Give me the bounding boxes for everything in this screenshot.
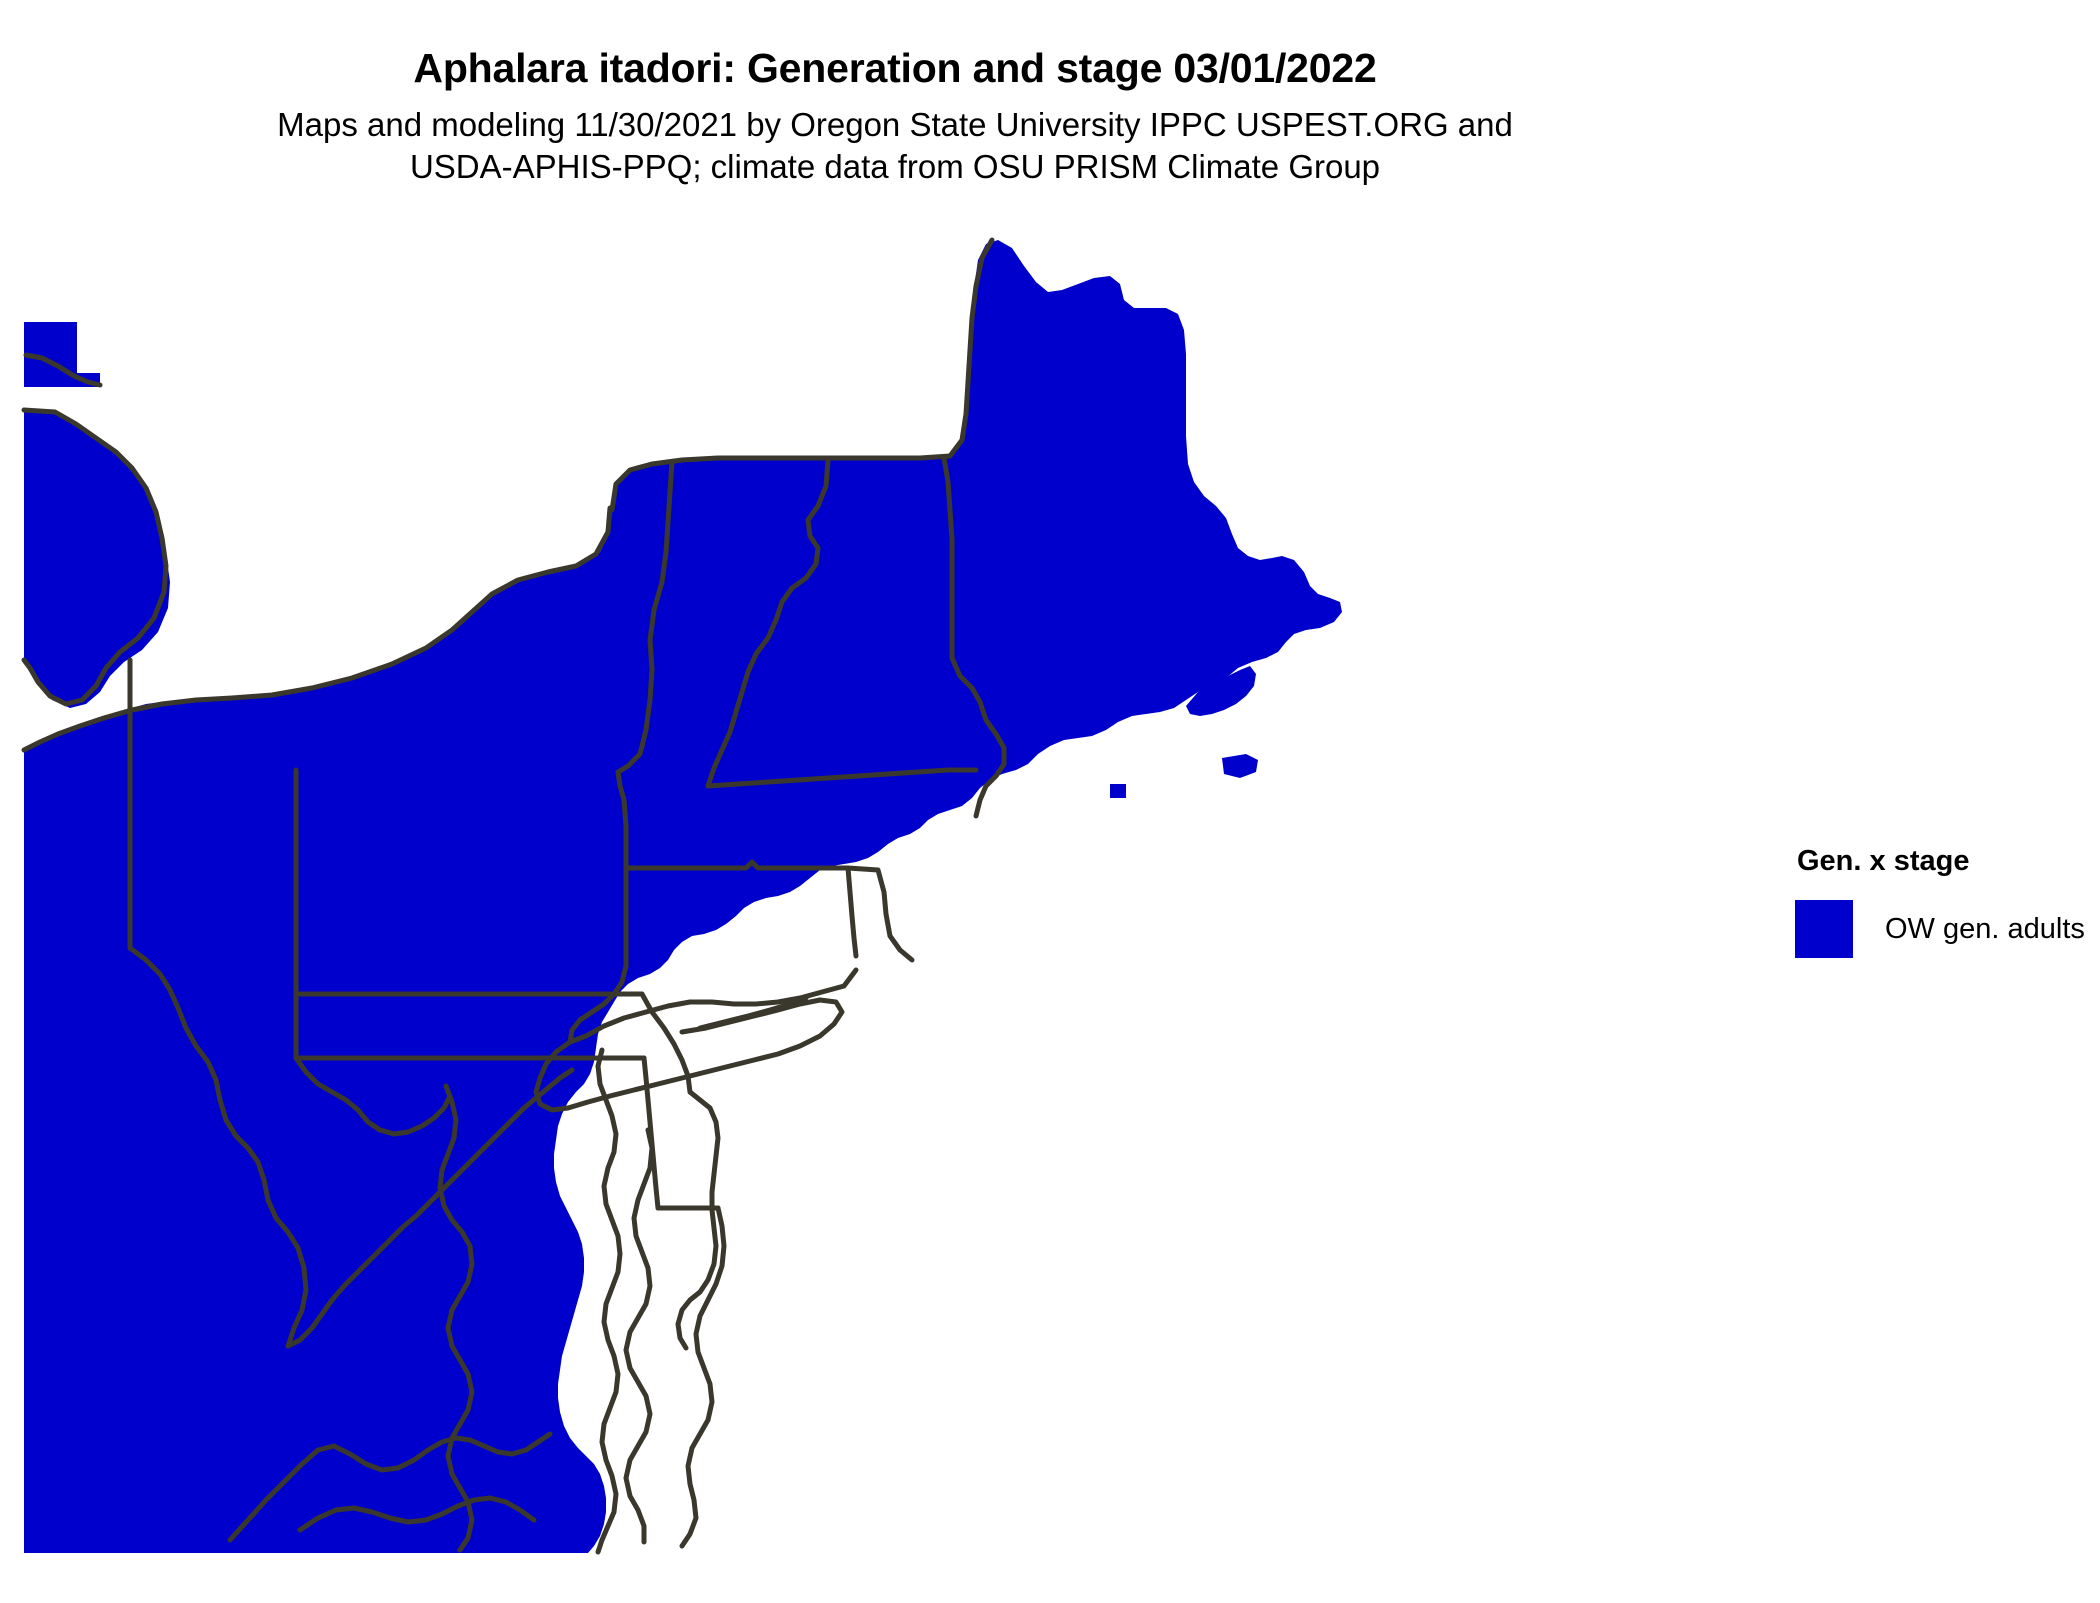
northeast-us-map [0, 230, 1790, 1560]
delmarva-bay-shore [626, 1130, 652, 1542]
legend-title: Gen. x stage [1797, 845, 2095, 878]
map-panel [0, 230, 1790, 1560]
page-title: Aphalara itadori: Generation and stage 0… [0, 46, 1790, 90]
island-block-a [1110, 784, 1126, 798]
legend: Gen. x stage OW gen. adults [1795, 845, 2095, 958]
delmarva-peninsula-east [682, 1208, 724, 1546]
subtitle-line-2: USDA-APHIS-PPQ; climate data from OSU PR… [0, 146, 1790, 188]
figure-canvas: Aphalara itadori: Generation and stage 0… [0, 0, 2100, 1603]
legend-item-label: OW gen. adults [1885, 913, 2085, 946]
chesapeake-bay [598, 1050, 620, 1552]
map-layer-fill [24, 240, 1342, 1553]
ct-ri-border [848, 868, 856, 956]
northeast-landmass [24, 240, 1342, 1553]
legend-color-swatch [1795, 900, 1853, 958]
legend-item-ow-gen-adults[interactable]: OW gen. adults [1795, 900, 2095, 958]
subtitle-line-1: Maps and modeling 11/30/2021 by Oregon S… [0, 104, 1790, 146]
islands-nantucket [1222, 754, 1258, 778]
figure-subtitle: Maps and modeling 11/30/2021 by Oregon S… [0, 104, 1790, 188]
nj-coast [678, 1092, 718, 1348]
